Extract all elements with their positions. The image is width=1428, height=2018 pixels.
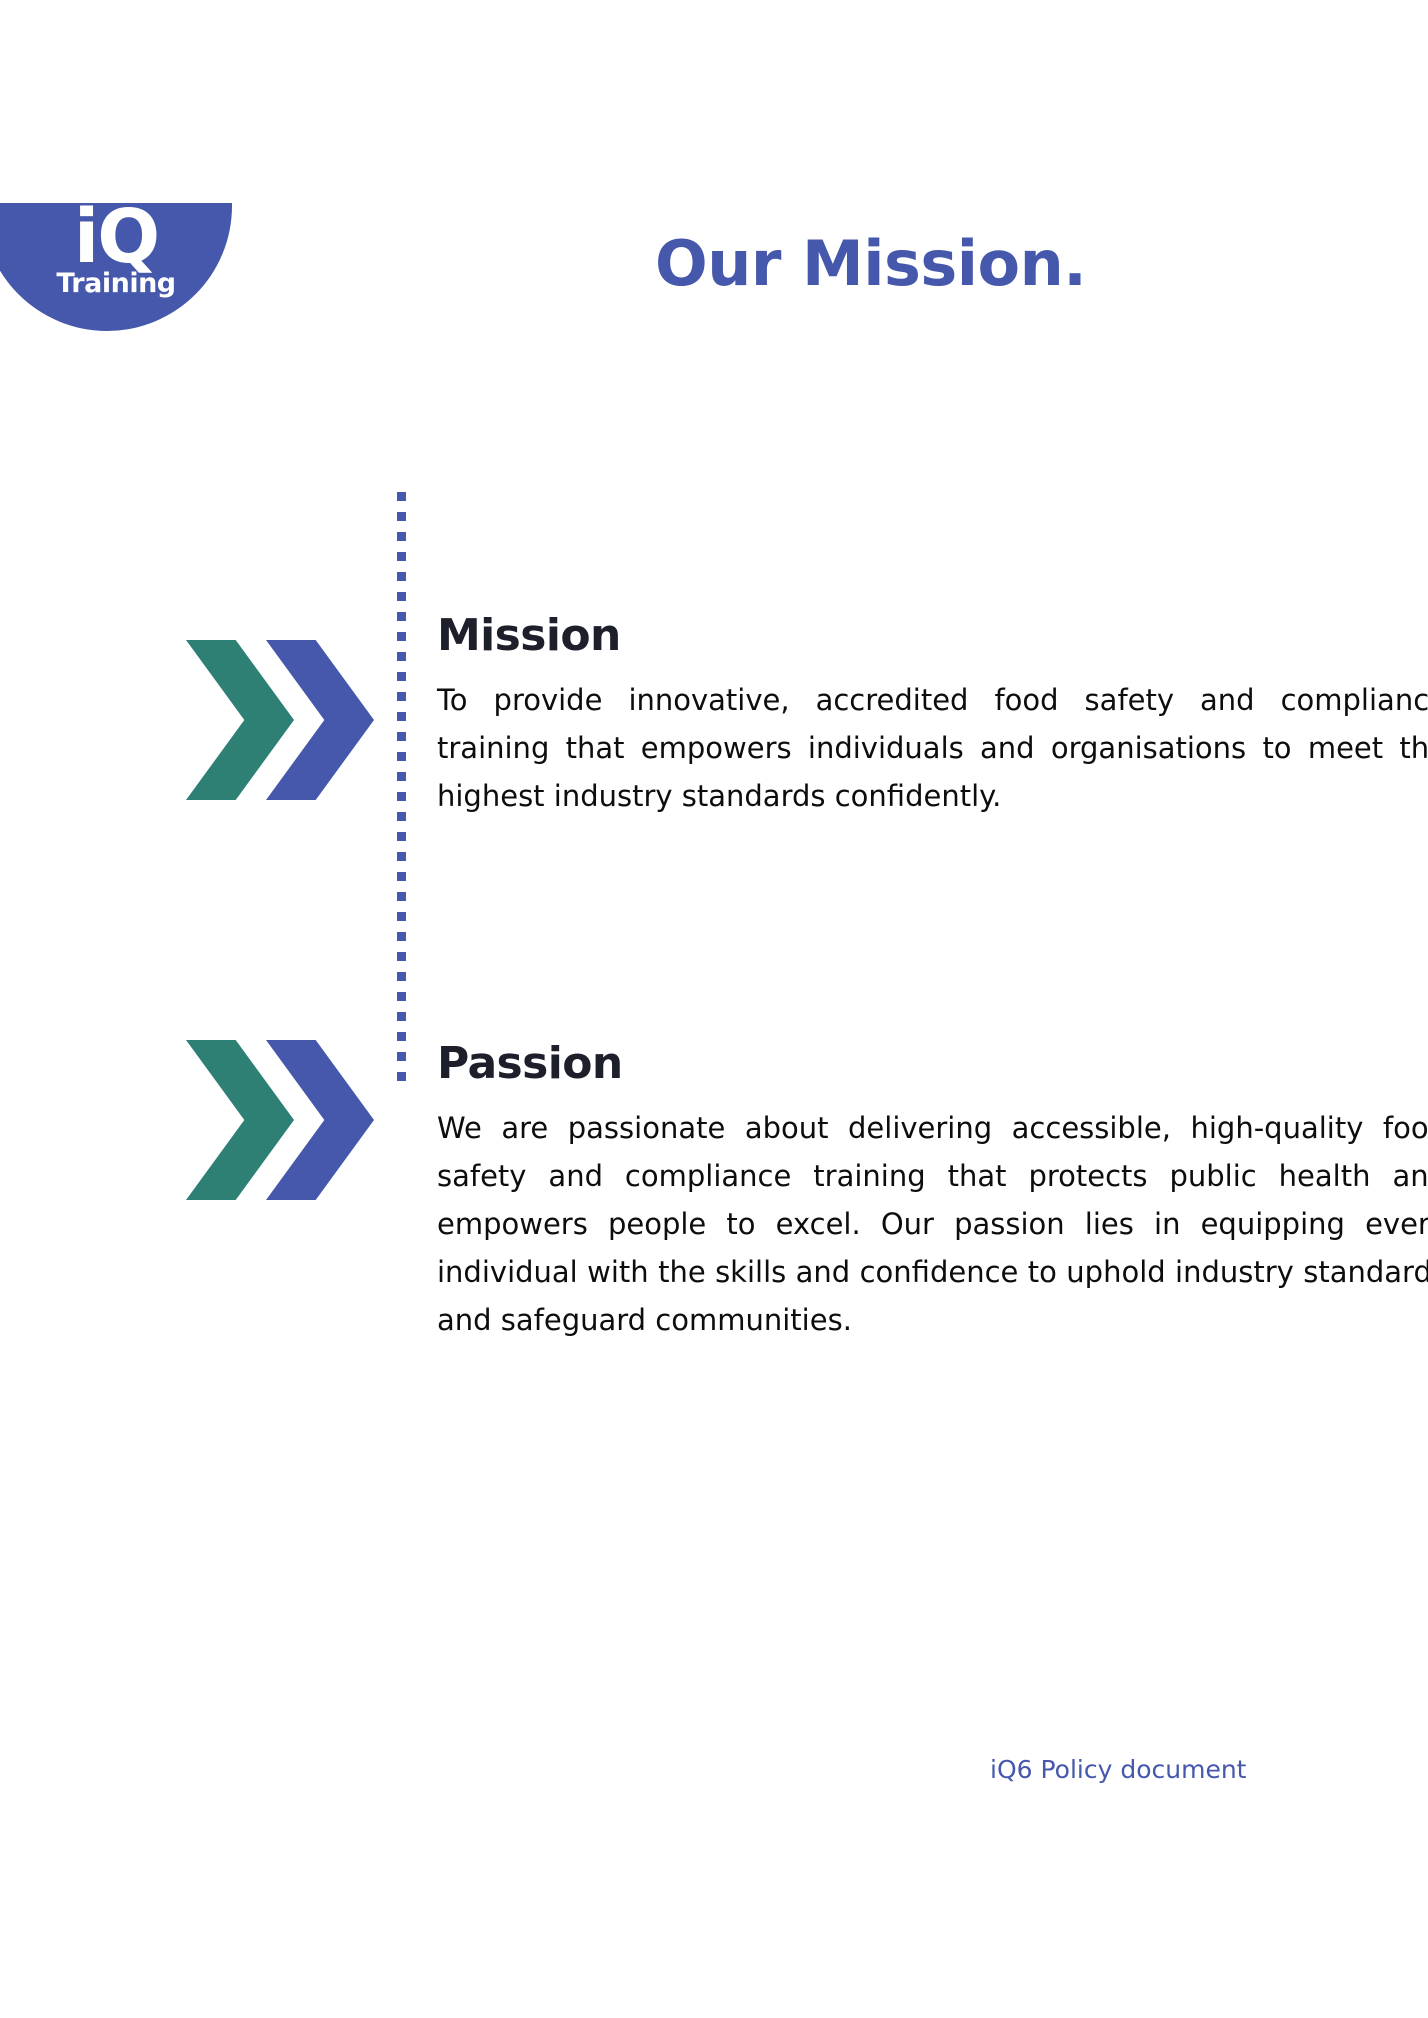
passion-double-chevron-right-icon	[178, 1040, 378, 1200]
mission-double-chevron-right-icon	[178, 640, 378, 800]
chevron-teal-icon	[186, 640, 294, 800]
slide-canvas: iQ Training Our Mission. Mission To prov…	[0, 0, 1428, 2018]
content-area: Mission To provide innovative, accredite…	[0, 0, 1428, 2018]
section-body-mission: To provide innovative, accredited food s…	[437, 676, 1428, 820]
footer-document-label: iQ6 Policy document	[990, 1755, 1246, 1785]
section-passion: Passion We are passionate about deliveri…	[437, 1040, 1428, 1344]
chevron-teal-icon	[186, 1040, 294, 1200]
section-heading-passion: Passion	[437, 1040, 1428, 1088]
section-body-passion: We are passionate about delivering acces…	[437, 1104, 1428, 1344]
section-mission: Mission To provide innovative, accredite…	[437, 612, 1428, 820]
section-heading-mission: Mission	[437, 612, 1428, 660]
dotted-divider	[397, 492, 406, 1092]
